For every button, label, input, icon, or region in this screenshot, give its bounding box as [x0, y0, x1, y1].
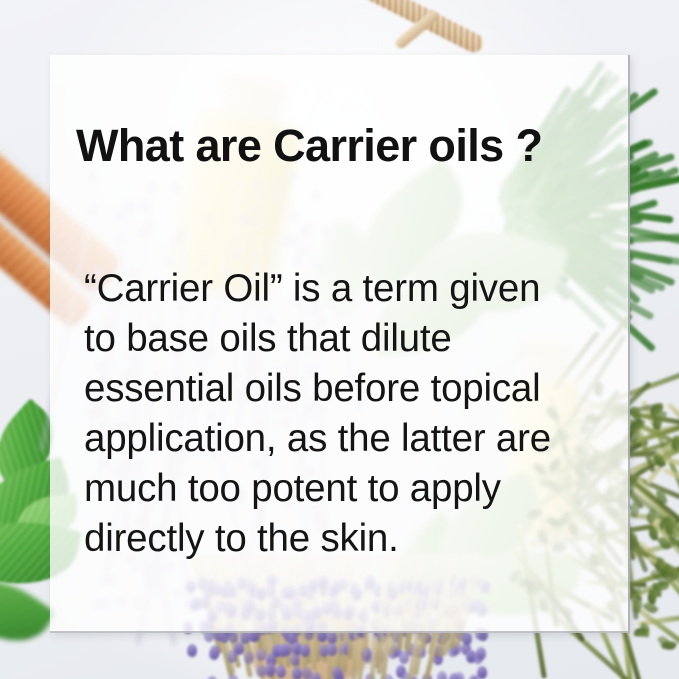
thyme-leaf [649, 526, 658, 540]
thyme-leaf [629, 533, 638, 547]
lavender-bud [311, 672, 321, 679]
body-line: application, as the latter are [84, 414, 614, 464]
body-line: much too potent to apply [84, 464, 614, 514]
body-line: to base oils that dilute [84, 314, 614, 364]
lavender-bud [437, 671, 447, 679]
lavender-bud [276, 665, 286, 678]
lavender-bud [266, 662, 276, 675]
lavender-bud [476, 647, 486, 660]
lavender-bud [290, 653, 300, 666]
lavender-bud [462, 632, 472, 645]
lavender-bud [244, 651, 254, 664]
lavender-bud [187, 644, 197, 657]
lavender-bud [332, 666, 342, 679]
lavender-bud [300, 644, 310, 657]
body-line: “Carrier Oil” is a term given [84, 264, 614, 314]
body-line: essential oils before topical [84, 364, 614, 414]
lavender-bud [234, 642, 244, 655]
lavender-bud [477, 666, 487, 679]
body-line: directly to the skin. [84, 514, 614, 564]
lavender-bud [256, 648, 266, 661]
page-title: What are Carrier oils ? [76, 122, 636, 169]
lavender-bud [454, 672, 464, 679]
body-paragraph: “Carrier Oil” is a term given to base oi… [84, 264, 614, 564]
lavender-bud [292, 667, 302, 679]
lavender-bud [209, 647, 219, 660]
infographic-image: What are Carrier oils ? “Carrier Oil” is… [0, 0, 679, 679]
lavender-bud [228, 674, 238, 679]
